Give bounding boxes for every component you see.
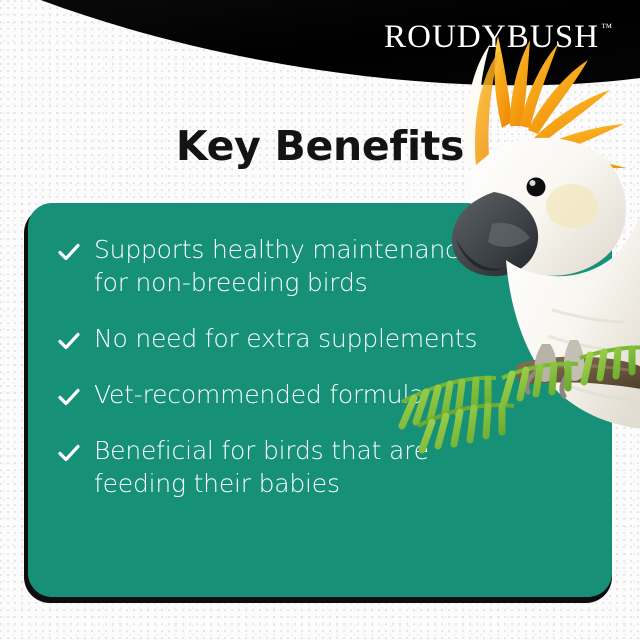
brand-wordmark: ROUDYBUSH [384,21,599,54]
benefit-text: No need for extra supplements [94,322,477,355]
benefit-text: Beneficial for birds that are feeding th… [94,434,514,500]
check-icon [56,239,82,265]
poster-canvas: ROUDYBUSH ™ Key Benefits Supports health… [0,0,640,640]
header-banner [0,0,640,112]
check-icon [56,328,82,354]
benefit-item-2: No need for extra supplements [56,322,526,355]
check-icon [56,440,82,466]
brand-logo: ROUDYBUSH ™ [384,21,612,54]
benefit-item-1: Supports healthy maintenance for non-bre… [56,233,526,299]
benefit-item-4: Beneficial for birds that are feeding th… [56,434,526,500]
benefit-item-3: Vet-recommended formula [56,378,526,411]
benefit-text: Vet-recommended formula [94,378,424,411]
benefit-text: Supports healthy maintenance for non-bre… [94,233,514,299]
trademark-symbol: ™ [601,23,612,34]
page-title: Key Benefits [0,122,640,170]
benefits-list: Supports healthy maintenance for non-bre… [56,233,526,500]
check-icon [56,384,82,410]
benefits-card: Supports healthy maintenance for non-bre… [28,203,612,597]
